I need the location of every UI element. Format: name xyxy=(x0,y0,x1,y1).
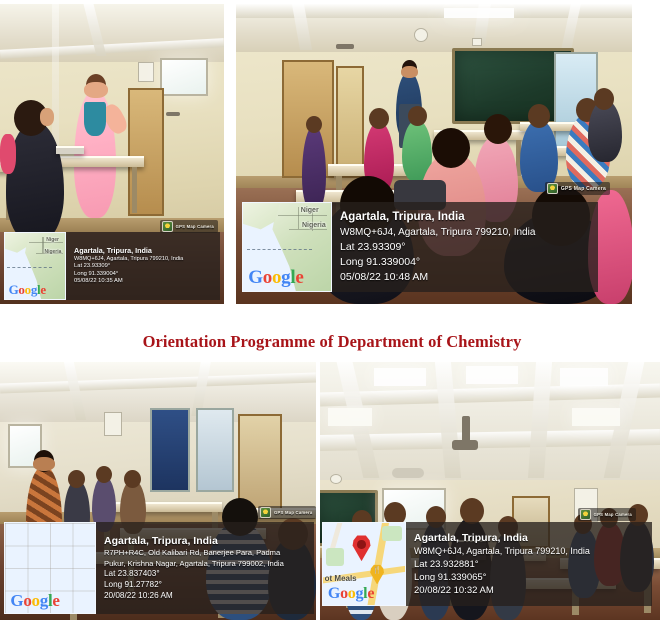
gps-longitude: Long 91.339065° xyxy=(414,571,646,584)
map-thumbnail: Niger Nigeria Google xyxy=(4,232,66,300)
window xyxy=(150,408,190,492)
gps-map-camera-label: GPS Map Camera xyxy=(594,512,632,517)
photo-top-left: GPS Map Camera Niger Nigeria Google Agar… xyxy=(0,4,224,304)
gps-location-title: Agartala, Tripura, India xyxy=(74,246,214,256)
gps-map-camera-label: GPS Map Camera xyxy=(561,186,606,192)
map-thumbnail: ot Meals Google xyxy=(322,522,406,606)
map-label-niger: Niger xyxy=(46,237,59,243)
gps-latitude: Lat 23.837403° xyxy=(104,569,308,580)
gps-latitude: Lat 23.93309° xyxy=(340,240,592,255)
page-title: Orientation Programme of Department of C… xyxy=(0,332,664,352)
google-wordmark: Google xyxy=(10,592,59,609)
photo-top-right: GPS Map Camera Niger Nigeria Google Agar… xyxy=(236,4,632,304)
front-desk xyxy=(48,156,144,167)
gps-address-line-1: R7PH+R4C, Old Kalibari Rd, Banerjee Para… xyxy=(104,548,308,558)
gps-map-camera-icon xyxy=(547,183,558,194)
map-location-pin xyxy=(351,534,372,561)
gps-map-camera-icon xyxy=(260,507,271,518)
gps-latitude: Lat 23.93309° xyxy=(74,263,214,271)
gps-longitude: Long 91.27782° xyxy=(104,580,308,591)
map-label-ot-meals: ot Meals xyxy=(325,574,357,583)
map-thumbnail: Google xyxy=(4,522,96,614)
gps-timestamp: 05/08/22 10:48 AM xyxy=(340,270,592,285)
photo-bottom-right: GPS Map Camera ot Meals Google Agartala,… xyxy=(320,362,660,620)
gps-address: W8MQ+6J4, Agartala, Tripura 799210, Indi… xyxy=(74,256,214,263)
gps-location-title: Agartala, Tripura, India xyxy=(414,531,646,545)
gps-overlay: Niger Nigeria Google Agartala, Tripura, … xyxy=(242,202,598,292)
gps-map-camera-icon xyxy=(580,509,591,520)
gps-map-camera-label: GPS Map Camera xyxy=(274,510,312,515)
gps-latitude: Lat 23.932881° xyxy=(414,558,646,571)
gps-map-camera-badge: GPS Map Camera xyxy=(258,506,316,519)
wall-notice xyxy=(138,62,154,82)
whiteboard xyxy=(160,58,208,96)
gps-timestamp: 20/08/22 10:32 AM xyxy=(414,584,646,597)
gps-overlay: Google Agartala, Tripura, India R7PH+R4C… xyxy=(4,522,314,614)
gps-map-camera-badge: GPS Map Camera xyxy=(545,182,610,195)
gps-location-title: Agartala, Tripura, India xyxy=(340,209,592,225)
gps-map-camera-icon xyxy=(162,221,173,232)
classroom-door xyxy=(238,414,282,510)
gps-overlay: Niger Nigeria Google Agartala, Tripura, … xyxy=(4,232,220,300)
gps-overlay: ot Meals Google Agartala, Tripura, India… xyxy=(322,522,652,606)
map-thumbnail: Niger Nigeria Google xyxy=(242,202,332,292)
gps-longitude: Long 91.339004° xyxy=(340,255,592,270)
gps-timestamp: 05/08/22 10:35 AM xyxy=(74,278,214,286)
google-wordmark: Google xyxy=(248,268,303,287)
map-label-nigeria: Nigeria xyxy=(302,222,326,229)
gps-location-title: Agartala, Tripura, India xyxy=(104,534,308,548)
google-wordmark: Google xyxy=(9,283,46,296)
map-label-nigeria: Nigeria xyxy=(44,249,61,255)
map-label-niger: Niger xyxy=(301,207,319,214)
gps-map-camera-label: GPS Map Camera xyxy=(176,224,214,229)
gps-address-line-2: Pukur, Krishna Nagar, Agartala, Tripura … xyxy=(104,559,308,569)
gps-map-camera-badge: GPS Map Camera xyxy=(578,508,636,521)
gps-address: W8MQ+6J4, Agartala, Tripura 799210, Indi… xyxy=(414,545,646,557)
photo-bottom-left: GPS Map Camera Google Agartala, Tripura,… xyxy=(0,362,316,620)
google-wordmark: Google xyxy=(328,586,374,602)
seated-student xyxy=(302,126,326,212)
gps-timestamp: 20/08/22 10:26 AM xyxy=(104,591,308,602)
document-page: GPS Map Camera Niger Nigeria Google Agar… xyxy=(0,0,664,623)
gps-address: W8MQ+6J4, Agartala, Tripura 799210, Indi… xyxy=(340,226,592,240)
